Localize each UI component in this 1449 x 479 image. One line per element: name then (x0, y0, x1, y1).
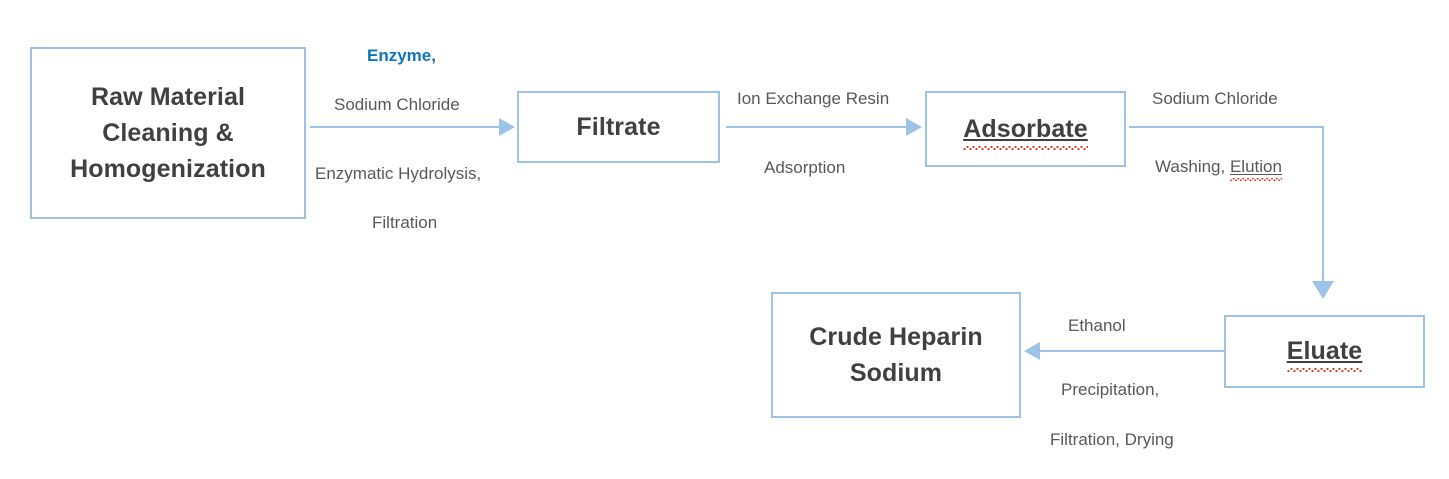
connector-adsorbate-to-eluate-horizontal (1129, 126, 1324, 128)
connector-adsorbate-to-eluate-vertical (1322, 126, 1324, 282)
node-crude-heparin-sodium-label: Crude Heparin Sodium (809, 319, 983, 392)
arrowhead-down-adsorbate-to-eluate (1312, 281, 1334, 299)
node-raw-material[interactable]: Raw Material Cleaning & Homogenization (30, 47, 306, 219)
node-raw-material-label: Raw Material Cleaning & Homogenization (70, 79, 266, 188)
edge-label-eluate-reagent: Ethanol (1068, 315, 1126, 336)
connector-filtrate-to-adsorbate-line (726, 126, 907, 128)
node-raw-material-line3: Homogenization (70, 155, 266, 183)
spellcheck-underline-eluate: Eluate (1287, 337, 1363, 365)
edge-label-adsorbate-operation: Washing, Elution (1155, 156, 1282, 177)
edge-label-adsorbate-reagent: Sodium Chloride (1152, 88, 1278, 109)
node-filtrate-label: Filtrate (576, 109, 660, 145)
spellcheck-underline-adsorbate: Adsorbate (963, 115, 1088, 143)
node-raw-material-line1: Raw Material (91, 83, 245, 111)
arrowhead-right-raw-to-filtrate (499, 118, 515, 136)
connector-raw-to-filtrate-line (310, 126, 500, 128)
arrowhead-right-filtrate-to-adsorbate (906, 118, 922, 136)
node-raw-material-line2: Cleaning & (102, 119, 234, 147)
edge-label-raw-operation-1: Enzymatic Hydrolysis, (315, 163, 481, 184)
node-eluate-label: Eluate (1287, 333, 1363, 369)
edge-label-enzyme-text: Enzyme (367, 46, 431, 65)
node-crude-line1: Crude Heparin (809, 323, 983, 351)
arrowhead-left-eluate-to-crude (1024, 342, 1040, 360)
spellcheck-underline-elution: Elution (1230, 157, 1282, 176)
connector-eluate-to-crude-line (1040, 350, 1224, 352)
edge-label-enzyme: Enzyme, (367, 45, 436, 66)
edge-label-enzyme-comma: , (431, 46, 436, 65)
node-adsorbate[interactable]: Adsorbate (925, 91, 1126, 167)
node-eluate[interactable]: Eluate (1224, 315, 1425, 388)
node-crude-line2: Sodium (850, 359, 942, 387)
edge-label-filtrate-reagent: Ion Exchange Resin (737, 88, 889, 109)
edge-label-filtrate-operation-1: Adsorption (764, 157, 845, 178)
flowchart-canvas: Raw Material Cleaning & Homogenization F… (0, 0, 1449, 479)
node-adsorbate-label: Adsorbate (963, 111, 1088, 147)
edge-label-raw-reagent: Sodium Chloride (334, 94, 460, 115)
edge-label-eluate-operation-2: Filtration, Drying (1050, 429, 1174, 450)
edge-label-washing: Washing, (1155, 157, 1225, 176)
edge-label-eluate-operation-1: Precipitation, (1061, 379, 1159, 400)
node-filtrate[interactable]: Filtrate (517, 91, 720, 163)
edge-label-raw-operation-2: Filtration (372, 212, 437, 233)
node-crude-heparin-sodium[interactable]: Crude Heparin Sodium (771, 292, 1021, 418)
